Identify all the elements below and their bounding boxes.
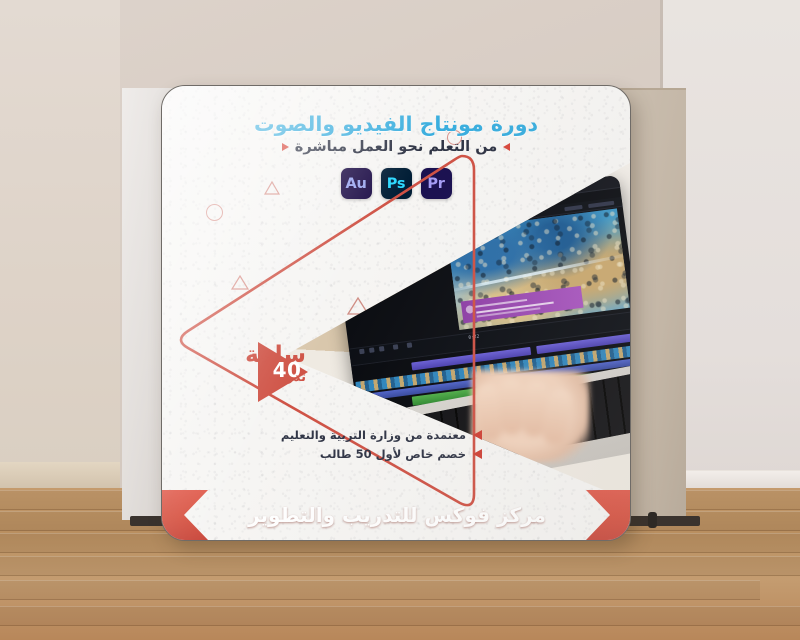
hand-on-keyboard — [471, 370, 590, 463]
hours-badge: 40 ساعة تدريبية — [180, 338, 380, 406]
app-badge-premiere: Pr — [421, 168, 452, 199]
software-badge-row: Au Ps Pr — [162, 168, 630, 199]
list-item: خصم خاص لأول 50 طالب — [182, 447, 482, 461]
baseboard-left — [0, 462, 120, 488]
bullet-marker-icon — [473, 430, 482, 440]
list-item-label: خصم خاص لأول 50 طالب — [320, 447, 466, 461]
bullet-marker-icon — [473, 449, 482, 459]
app-badge-audition: Au — [341, 168, 372, 199]
editor-program-monitor — [446, 208, 630, 330]
page-subtitle-text: من التعلم نحو العمل مباشرة — [295, 139, 497, 155]
page-title: دورة مونتاج الفيديو والصوت — [184, 112, 608, 136]
subtitle-marker-left-icon — [282, 143, 289, 151]
subtitle-marker-right-icon — [503, 143, 510, 151]
app-badge-photoshop: Ps — [381, 168, 412, 199]
stand-foot-nub-right — [648, 512, 657, 528]
feature-list: معتمدة من وزارة التربية والتعليم خصم خاص… — [182, 428, 482, 466]
hours-unit-label: ساعة — [194, 342, 306, 368]
footer-ribbon-label: مركز فوكس للتدريب والتطوير — [162, 490, 631, 540]
hours-qualifier-label: تدريبية — [194, 370, 306, 385]
deco-circle-1 — [206, 204, 223, 221]
banner-artwork: دورة مونتاج الفيديو والصوت من التعلم نحو… — [161, 85, 631, 541]
list-item-label: معتمدة من وزارة التربية والتعليم — [281, 428, 466, 442]
stand-foot-right — [622, 516, 700, 526]
page-subtitle: من التعلم نحو العمل مباشرة — [184, 139, 608, 155]
wall-left — [0, 0, 120, 470]
list-item: معتمدة من وزارة التربية والتعليم — [182, 428, 482, 442]
app-badge-photoshop-label: Ps — [387, 176, 405, 192]
app-badge-premiere-label: Pr — [427, 176, 444, 192]
banner-mockup-scene: دورة مونتاج الفيديو والصوت من التعلم نحو… — [0, 0, 800, 640]
app-badge-audition-label: Au — [346, 176, 367, 192]
